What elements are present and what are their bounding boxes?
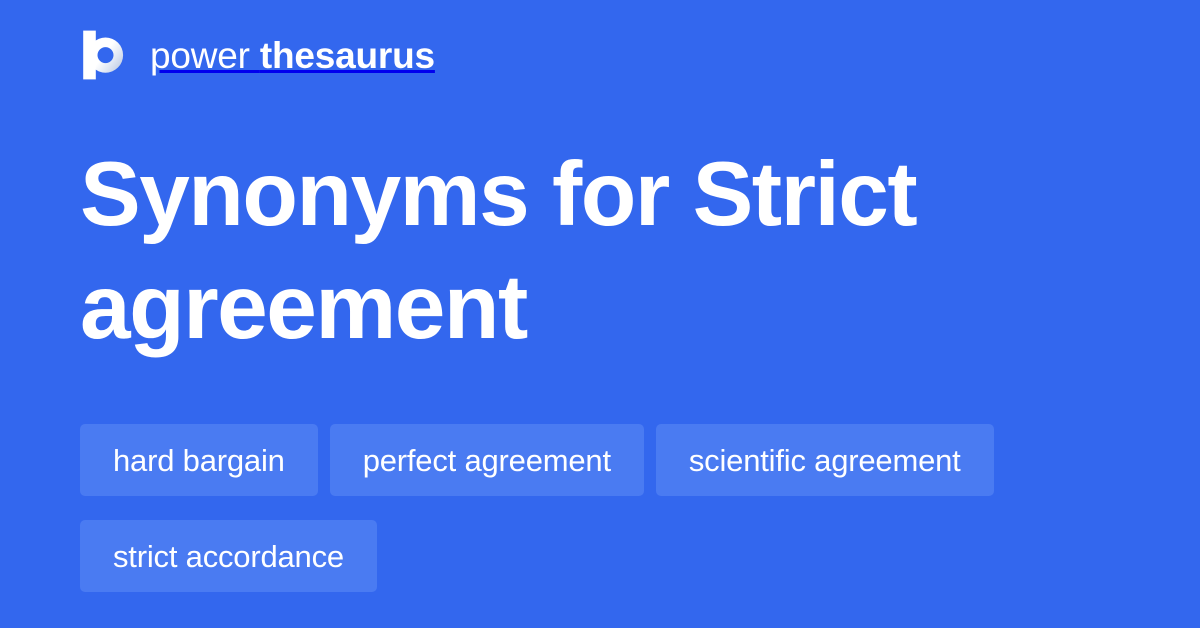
brand-name-word-2: thesaurus [260, 35, 435, 76]
synonym-chip[interactable]: scientific agreement [656, 424, 994, 496]
page-title: Synonyms for Strict agreement [80, 138, 920, 364]
synonym-chip[interactable]: hard bargain [80, 424, 318, 496]
power-thesaurus-b-logo-icon [80, 29, 128, 81]
synonym-chip[interactable]: perfect agreement [330, 424, 644, 496]
og-card: power thesaurus Synonyms for Strict agre… [0, 0, 1200, 628]
brand-name-word-1: power [150, 35, 260, 76]
brand-name: power thesaurus [150, 37, 435, 74]
synonym-chip[interactable]: strict accordance [80, 520, 377, 592]
synonym-chip-list: hard bargain perfect agreement scientifi… [80, 424, 1180, 592]
brand-logo-link[interactable]: power thesaurus [80, 29, 435, 81]
